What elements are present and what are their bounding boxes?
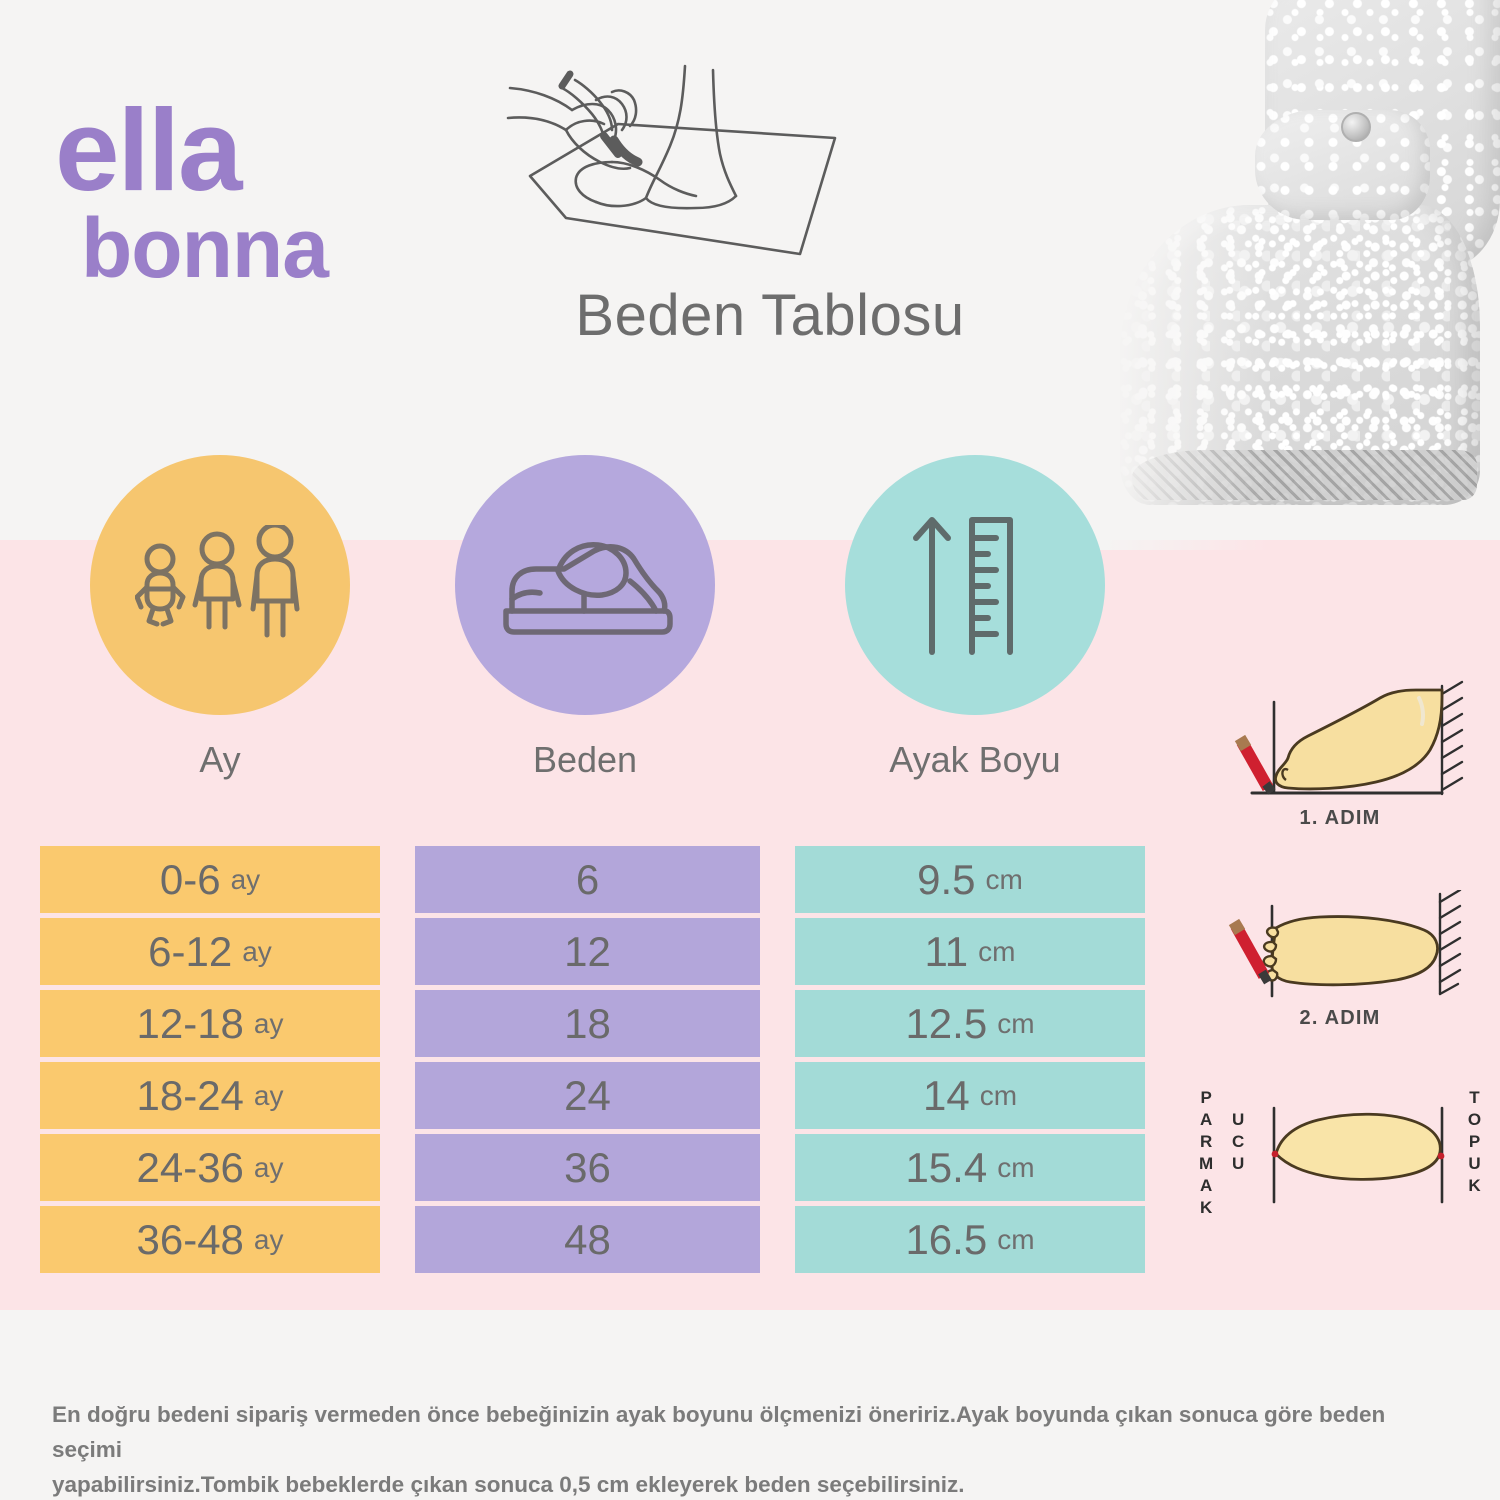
bootie-shaft	[1265, 0, 1500, 270]
size-chart-page: ella bonna	[0, 0, 1500, 1500]
category-ayak-boyu-label: Ayak Boyu	[845, 739, 1105, 781]
cell-length-value: 11	[925, 928, 969, 976]
cell-size: 48	[415, 1206, 760, 1273]
cell-length-value: 12.5	[905, 1000, 987, 1048]
cell-age-value: 24-36	[137, 1144, 244, 1192]
shoe-sneaker-icon	[498, 525, 673, 645]
footer-line-2: yapabilirsiniz.Tombik bebeklerde çıkan s…	[52, 1468, 1452, 1500]
cell-age-unit: ay	[254, 1224, 284, 1256]
cell-length-unit: cm	[980, 1080, 1017, 1112]
step-1-caption: 1. ADIM	[1190, 807, 1490, 830]
cell-age: 36-48ay	[40, 1206, 380, 1273]
hand-tracing-foot-on-paper-icon	[500, 58, 860, 273]
cell-length-unit: cm	[997, 1224, 1034, 1256]
cell-age-value: 18-24	[137, 1072, 244, 1120]
cell-age-value: 12-18	[137, 1000, 244, 1048]
foot-top-view-against-wall-with-pencil-icon	[1190, 890, 1490, 1000]
category-beden-circle	[455, 455, 715, 715]
cell-length-unit: cm	[997, 1008, 1034, 1040]
footer-note: En doğru bedeni sipariş vermeden önce be…	[52, 1398, 1452, 1500]
brand-logo: ella bonna	[55, 95, 385, 289]
step-2: 2. ADIM	[1190, 890, 1490, 1030]
step-3: PARMAK UCU TOPUK	[1190, 1084, 1490, 1234]
table-row: 12-18ay 18 12.5cm	[40, 990, 1150, 1057]
bootie-cuff	[1255, 110, 1430, 220]
cell-length-value: 16.5	[905, 1216, 987, 1264]
category-beden-label: Beden	[455, 739, 715, 781]
cell-length-value: 9.5	[917, 856, 975, 904]
cell-length-unit: cm	[997, 1152, 1034, 1184]
cell-length-value: 14	[923, 1072, 970, 1120]
cell-age-value: 6-12	[148, 928, 232, 976]
cell-age: 18-24ay	[40, 1062, 380, 1129]
bootie-body	[1120, 205, 1480, 505]
cell-length-value: 15.4	[905, 1144, 987, 1192]
category-beden: Beden	[455, 455, 715, 781]
step-2-caption: 2. ADIM	[1190, 1007, 1490, 1030]
table-row: 6-12ay 12 11cm	[40, 918, 1150, 985]
cell-length: 15.4cm	[795, 1134, 1145, 1201]
cell-size: 36	[415, 1134, 760, 1201]
table-row: 36-48ay 48 16.5cm	[40, 1206, 1150, 1273]
arrow-ruler-height-icon	[910, 510, 1040, 660]
cell-age-value: 36-48	[137, 1216, 244, 1264]
category-ayak-boyu: Ayak Boyu	[845, 455, 1105, 781]
category-ay: Ay	[90, 455, 350, 781]
cell-age-unit: ay	[242, 936, 272, 968]
cell-age: 0-6ay	[40, 846, 380, 913]
footer-line-1: En doğru bedeni sipariş vermeden önce be…	[52, 1398, 1452, 1468]
table-row: 0-6ay 6 9.5cm	[40, 846, 1150, 913]
cell-length: 12.5cm	[795, 990, 1145, 1057]
brand-logo-line2: bonna	[81, 209, 385, 289]
cell-size: 6	[415, 846, 760, 913]
cell-length: 11cm	[795, 918, 1145, 985]
table-row: 18-24ay 24 14cm	[40, 1062, 1150, 1129]
cell-age: 12-18ay	[40, 990, 380, 1057]
cell-age-unit: ay	[254, 1080, 284, 1112]
cell-length-unit: cm	[978, 936, 1015, 968]
footprint-measure-icon	[1190, 1084, 1490, 1224]
category-ay-label: Ay	[90, 739, 350, 781]
cell-length-unit: cm	[986, 864, 1023, 896]
cell-size: 12	[415, 918, 760, 985]
category-ayak-boyu-circle	[845, 455, 1105, 715]
brand-logo-line1: ella	[55, 95, 385, 205]
cell-age: 24-36ay	[40, 1134, 380, 1201]
category-row: Ay Beden	[0, 455, 1160, 785]
cell-age-value: 0-6	[160, 856, 221, 904]
step-1: 1. ADIM	[1190, 680, 1490, 830]
cell-age-unit: ay	[254, 1008, 284, 1040]
cell-age-unit: ay	[254, 1152, 284, 1184]
bootie-snap-button-icon	[1341, 112, 1371, 142]
cell-age: 6-12ay	[40, 918, 380, 985]
table-row: 24-36ay 36 15.4cm	[40, 1134, 1150, 1201]
cell-length: 14cm	[795, 1062, 1145, 1129]
category-ay-circle	[90, 455, 350, 715]
family-growth-figures-icon	[135, 525, 305, 645]
cell-size: 24	[415, 1062, 760, 1129]
cell-length: 9.5cm	[795, 846, 1145, 913]
bootie-sole	[1132, 450, 1477, 500]
cell-age-unit: ay	[231, 864, 261, 896]
cell-length: 16.5cm	[795, 1206, 1145, 1273]
page-title: Beden Tablosu	[420, 282, 1120, 349]
measurement-steps: 1. ADIM	[1190, 680, 1490, 1234]
size-table: 0-6ay 6 9.5cm 6-12ay 12 11cm 12-18ay 18 …	[40, 846, 1150, 1278]
foot-side-view-against-wall-with-pencil-icon	[1190, 680, 1490, 800]
cell-size: 18	[415, 990, 760, 1057]
